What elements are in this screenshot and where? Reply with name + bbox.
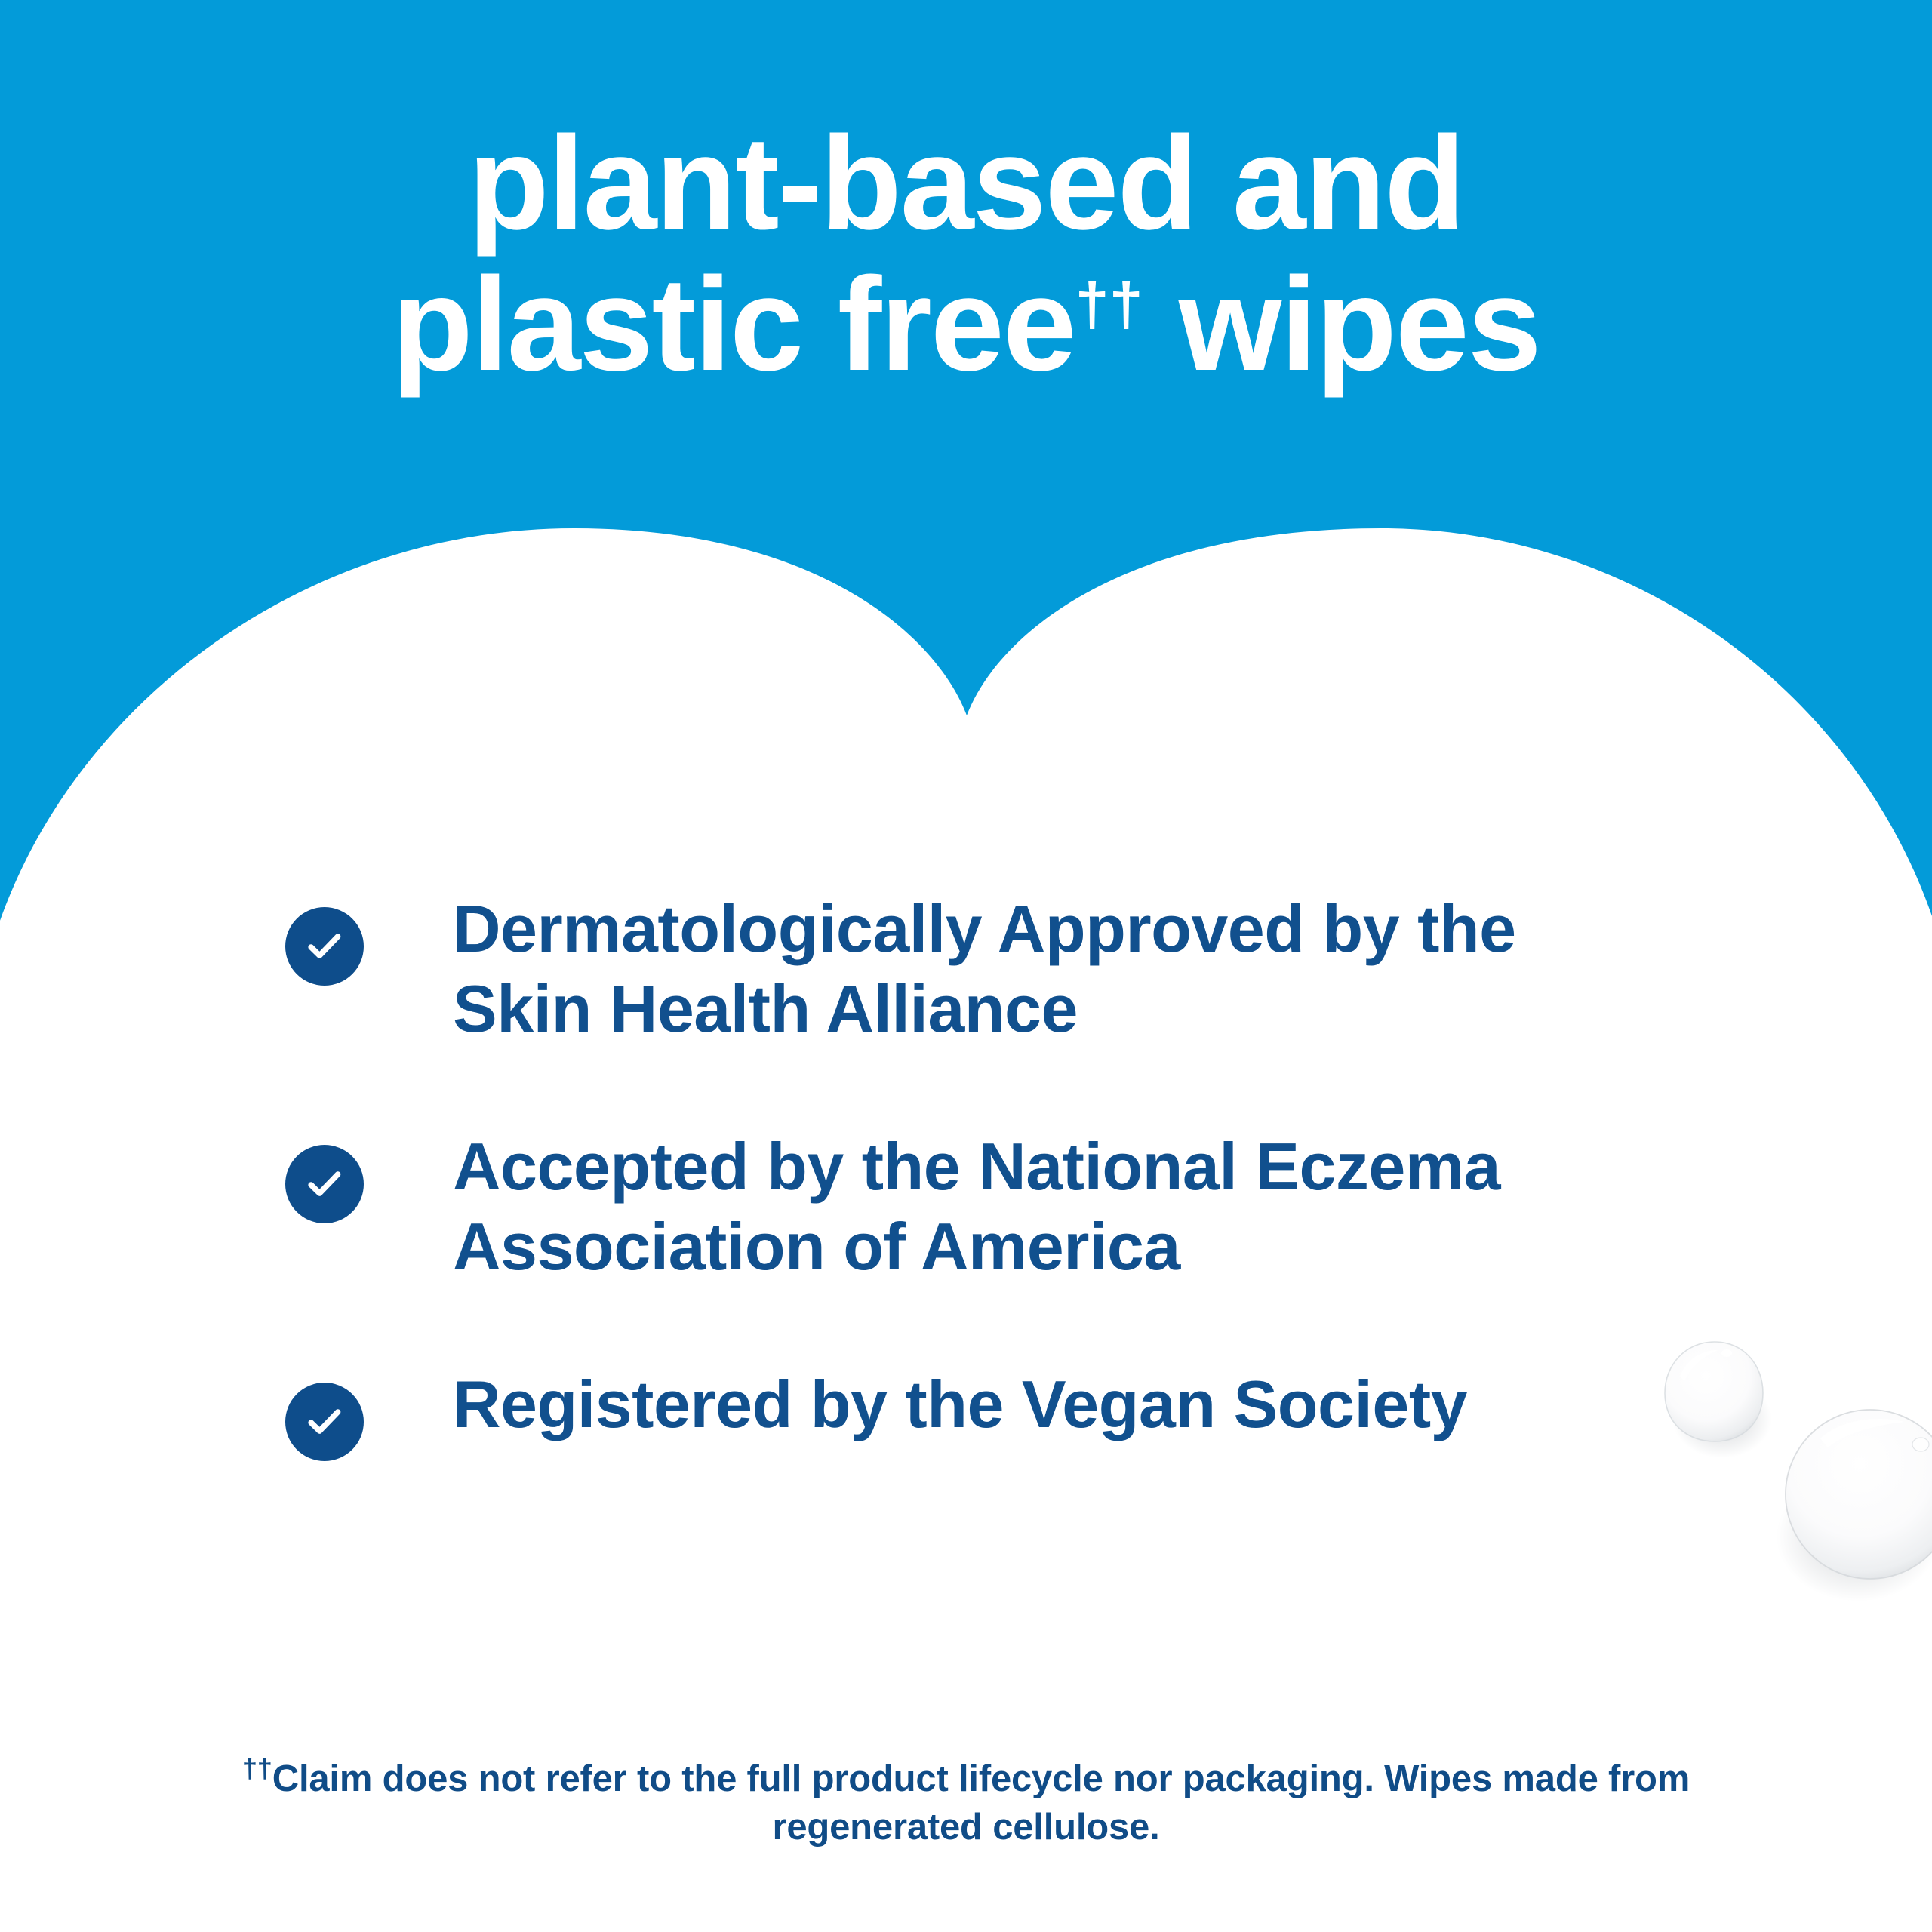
promo-graphic-canvas: plant-based and plastic free†† wipes Der… [0, 0, 1932, 1932]
headline-line-2-text: plastic free [392, 251, 1075, 398]
footnote-text: Claim does not refer to the full product… [272, 1758, 1690, 1847]
list-item: Dermatologically Approved by the Skin He… [285, 889, 1659, 1048]
list-item-label: Accepted by the National Eczema Associat… [453, 1127, 1659, 1286]
footnote-marker: †† [242, 1753, 272, 1784]
headline-line-1: plant-based and [0, 113, 1932, 254]
check-icon [285, 1383, 364, 1461]
headline-superscript-marker: †† [1075, 270, 1143, 338]
page-title: plant-based and plastic free†† wipes [0, 113, 1932, 395]
list-item-label: Dermatologically Approved by the Skin He… [453, 889, 1659, 1048]
water-droplet-large [1758, 1389, 1932, 1615]
check-icon [285, 1145, 364, 1223]
list-item: Registered by the Vegan Society [285, 1364, 1659, 1461]
claims-list: Dermatologically Approved by the Skin He… [285, 889, 1659, 1461]
headline-line-2: plastic free†† wipes [0, 254, 1932, 395]
list-item: Accepted by the National Eczema Associat… [285, 1127, 1659, 1286]
headline-line-2-suffix: wipes [1143, 251, 1540, 398]
list-item-label: Registered by the Vegan Society [453, 1364, 1467, 1444]
check-icon [285, 907, 364, 986]
footnote: ††Claim does not refer to the full produ… [158, 1755, 1774, 1851]
